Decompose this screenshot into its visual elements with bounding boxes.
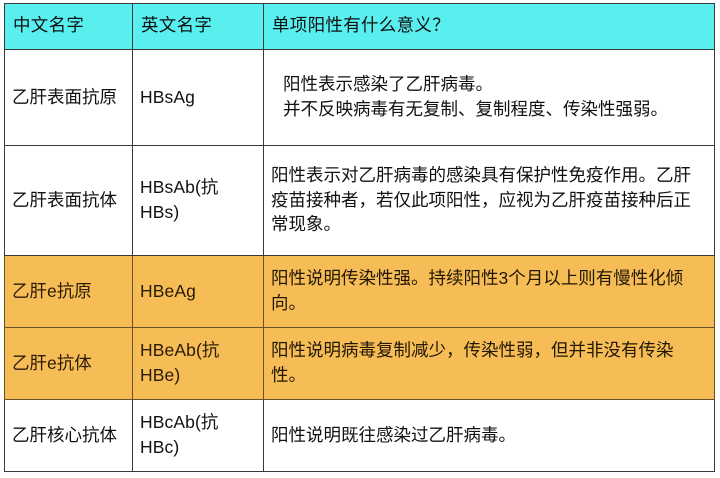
cell-meaning: 阳性说明病毒复制减少，传染性弱，但并非没有传染性。 <box>264 328 715 400</box>
table-row: 乙肝表面抗体 HBsAb(抗HBs) 阳性表示对乙肝病毒的感染具有保护性免疫作用… <box>5 146 715 256</box>
table-header-row: 中文名字 英文名字 单项阳性有什么意义？ <box>5 4 715 50</box>
cell-meaning: 阳性说明传染性强。持续阳性3个月以上则有慢性化倾向。 <box>264 256 715 328</box>
cell-english-name: HBsAg <box>133 50 264 146</box>
cell-chinese-name: 乙肝表面抗原 <box>5 50 133 146</box>
cell-english-name: HBeAg <box>133 256 264 328</box>
cell-chinese-name: 乙肝e抗体 <box>5 328 133 400</box>
hbv-marker-table-container: 中文名字 英文名字 单项阳性有什么意义？ 乙肝表面抗原 HBsAg 阳性表示感染… <box>4 3 714 473</box>
meaning-line: 阳性表示感染了乙肝病毒。 <box>271 72 707 97</box>
table-row: 乙肝e抗原 HBeAg 阳性说明传染性强。持续阳性3个月以上则有慢性化倾向。 <box>5 256 715 328</box>
table-row: 乙肝e抗体 HBeAb(抗HBe) 阳性说明病毒复制减少，传染性弱，但并非没有传… <box>5 328 715 400</box>
column-header-chinese-name: 中文名字 <box>5 4 133 50</box>
cell-meaning: 阳性表示感染了乙肝病毒。并不反映病毒有无复制、复制程度、传染性强弱。 <box>264 50 715 146</box>
cell-english-name: HBeAb(抗HBe) <box>133 328 264 400</box>
cell-english-name: HBcAb(抗HBc) <box>133 400 264 472</box>
cell-chinese-name: 乙肝核心抗体 <box>5 400 133 472</box>
cell-meaning: 阳性说明既往感染过乙肝病毒。 <box>264 400 715 472</box>
column-header-english-name: 英文名字 <box>133 4 264 50</box>
meaning-line: 并不反映病毒有无复制、复制程度、传染性强弱。 <box>271 97 707 122</box>
cell-english-name: HBsAb(抗HBs) <box>133 146 264 256</box>
hbv-marker-table: 中文名字 英文名字 单项阳性有什么意义？ 乙肝表面抗原 HBsAg 阳性表示感染… <box>4 3 715 472</box>
cell-chinese-name: 乙肝表面抗体 <box>5 146 133 256</box>
table-row: 乙肝表面抗原 HBsAg 阳性表示感染了乙肝病毒。并不反映病毒有无复制、复制程度… <box>5 50 715 146</box>
table-row: 乙肝核心抗体 HBcAb(抗HBc) 阳性说明既往感染过乙肝病毒。 <box>5 400 715 472</box>
cell-chinese-name: 乙肝e抗原 <box>5 256 133 328</box>
column-header-meaning: 单项阳性有什么意义？ <box>264 4 715 50</box>
cell-meaning: 阳性表示对乙肝病毒的感染具有保护性免疫作用。乙肝疫苗接种者，若仅此项阳性，应视为… <box>264 146 715 256</box>
